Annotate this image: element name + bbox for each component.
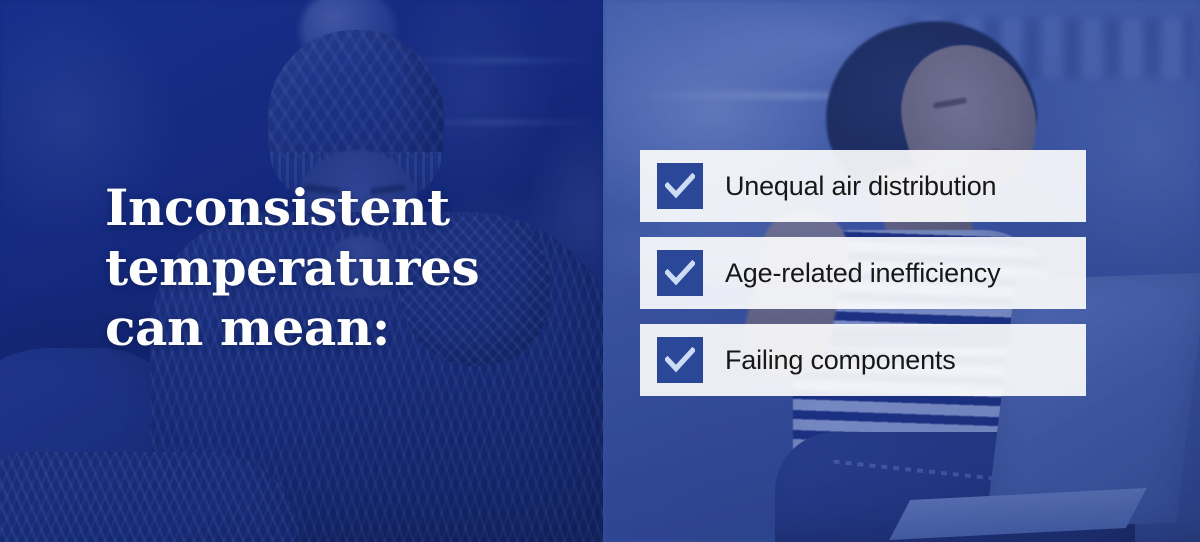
check-icon[interactable] (657, 250, 703, 296)
list-item[interactable]: Unequal air distribution (640, 150, 1086, 222)
check-icon[interactable] (657, 163, 703, 209)
list-item[interactable]: Failing components (640, 324, 1086, 396)
headline-line-2: temperatures (105, 238, 575, 298)
list-item[interactable]: Age-related inefficiency (640, 237, 1086, 309)
list-item-label: Failing components (725, 345, 956, 376)
check-icon[interactable] (657, 337, 703, 383)
infographic-banner: Inconsistent temperatures can mean: (0, 0, 1200, 542)
left-image-panel: Inconsistent temperatures can mean: (0, 0, 603, 542)
page-title: Inconsistent temperatures can mean: (105, 178, 575, 358)
list-item-label: Unequal air distribution (725, 171, 996, 202)
headline-line-1: Inconsistent (105, 178, 575, 238)
headline-line-3: can mean: (105, 298, 575, 358)
checklist: Unequal air distribution Age-related ine… (640, 150, 1086, 396)
list-item-label: Age-related inefficiency (725, 258, 1000, 289)
